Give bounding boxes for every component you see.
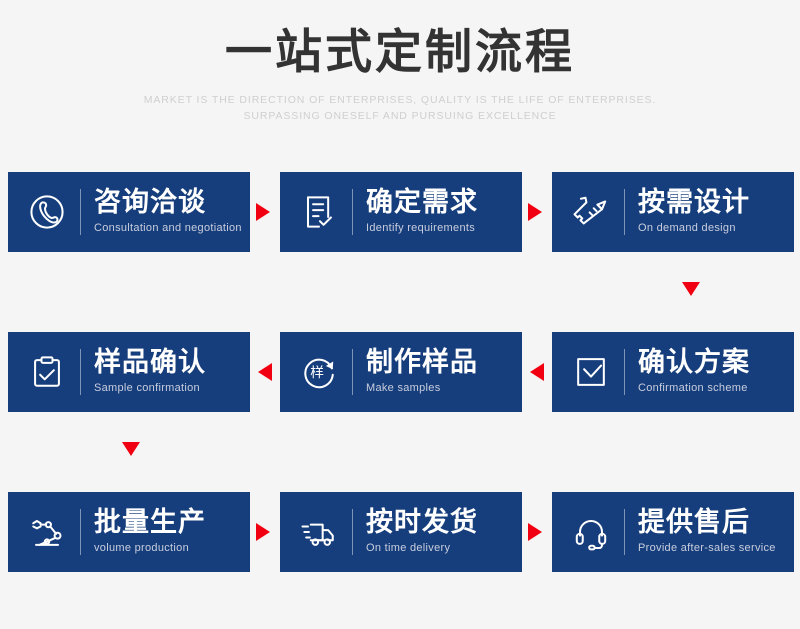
step-subtitle: Sample confirmation	[94, 381, 206, 396]
card-divider	[80, 349, 81, 395]
checkbox-square-icon	[566, 347, 616, 397]
arrow-right-icon-1	[256, 203, 270, 221]
ruler-pencil-icon	[566, 187, 616, 237]
process-row-1: 咨询洽谈 Consultation and negotiation	[0, 172, 800, 252]
page-title: 一站式定制流程	[0, 26, 800, 80]
step-title: 确认方案	[638, 348, 750, 379]
process-step-card-after-sales-service[interactable]: 提供售后 Provide after-sales service	[552, 492, 794, 572]
card-divider	[352, 349, 353, 395]
headset-icon	[566, 507, 616, 557]
process-step-card-identify-requirements[interactable]: 确定需求 Identify requirements	[280, 172, 522, 252]
sample-refresh-icon: 样	[294, 347, 344, 397]
process-row-2: 样品确认 Sample confirmation 样 制作样品 Make sam…	[0, 332, 800, 412]
card-divider	[352, 189, 353, 235]
step-title: 提供售后	[638, 508, 776, 539]
process-flow-page: 一站式定制流程 MARKET IS THE DIRECTION OF ENTER…	[0, 0, 800, 629]
card-text-block: 确定需求 Identify requirements	[366, 188, 478, 236]
arrow-right-icon-2	[528, 203, 542, 221]
arrow-down-icon-1	[682, 282, 700, 296]
step-title: 确定需求	[366, 188, 478, 219]
process-step-card-on-demand-design[interactable]: 按需设计 On demand design	[552, 172, 794, 252]
arrow-left-icon-2	[530, 363, 544, 381]
process-step-card-volume-production[interactable]: 批量生产 volume production	[8, 492, 250, 572]
card-text-block: 提供售后 Provide after-sales service	[638, 508, 776, 556]
page-subtitle: MARKET IS THE DIRECTION OF ENTERPRISES, …	[80, 92, 720, 125]
card-text-block: 咨询洽谈 Consultation and negotiation	[94, 188, 242, 236]
step-subtitle: Confirmation scheme	[638, 381, 750, 396]
card-divider	[352, 509, 353, 555]
robot-arm-icon	[22, 507, 72, 557]
process-flow-grid: 咨询洽谈 Consultation and negotiation	[0, 172, 800, 572]
page-header: 一站式定制流程 MARKET IS THE DIRECTION OF ENTER…	[0, 0, 800, 125]
card-divider	[624, 349, 625, 395]
step-subtitle: Consultation and negotiation	[94, 221, 242, 236]
card-text-block: 按时发货 On time delivery	[366, 508, 478, 556]
step-title: 按时发货	[366, 508, 478, 539]
process-step-card-consultation[interactable]: 咨询洽谈 Consultation and negotiation	[8, 172, 250, 252]
step-title: 制作样品	[366, 348, 478, 379]
step-subtitle: On demand design	[638, 221, 750, 236]
phone-circle-icon	[22, 187, 72, 237]
card-text-block: 制作样品 Make samples	[366, 348, 478, 396]
card-divider	[624, 189, 625, 235]
arrow-right-icon-4	[528, 523, 542, 541]
process-row-3: 批量生产 volume production	[0, 492, 800, 572]
arrow-left-icon-1	[258, 363, 272, 381]
arrow-down-icon-2	[122, 442, 140, 456]
page-subtitle-line-2: SURPASSING ONESELF AND PURSUING EXCELLEN…	[80, 108, 720, 124]
svg-text:样: 样	[310, 365, 324, 381]
process-step-card-confirmation-scheme[interactable]: 确认方案 Confirmation scheme	[552, 332, 794, 412]
arrow-right-icon-3	[256, 523, 270, 541]
step-subtitle: Provide after-sales service	[638, 541, 776, 556]
step-title: 批量生产	[94, 508, 206, 539]
step-subtitle: Make samples	[366, 381, 478, 396]
process-step-card-make-samples[interactable]: 样 制作样品 Make samples	[280, 332, 522, 412]
step-subtitle: Identify requirements	[366, 221, 478, 236]
card-text-block: 按需设计 On demand design	[638, 188, 750, 236]
document-check-icon	[294, 187, 344, 237]
process-step-card-on-time-delivery[interactable]: 按时发货 On time delivery	[280, 492, 522, 572]
process-step-card-sample-confirmation[interactable]: 样品确认 Sample confirmation	[8, 332, 250, 412]
card-divider	[80, 509, 81, 555]
clipboard-check-icon	[22, 347, 72, 397]
card-text-block: 样品确认 Sample confirmation	[94, 348, 206, 396]
card-divider	[80, 189, 81, 235]
page-subtitle-line-1: MARKET IS THE DIRECTION OF ENTERPRISES, …	[80, 92, 720, 108]
step-title: 按需设计	[638, 188, 750, 219]
step-subtitle: volume production	[94, 541, 206, 556]
step-title: 咨询洽谈	[94, 188, 242, 219]
truck-icon	[294, 507, 344, 557]
card-divider	[624, 509, 625, 555]
step-title: 样品确认	[94, 348, 206, 379]
card-text-block: 批量生产 volume production	[94, 508, 206, 556]
step-subtitle: On time delivery	[366, 541, 478, 556]
card-text-block: 确认方案 Confirmation scheme	[638, 348, 750, 396]
